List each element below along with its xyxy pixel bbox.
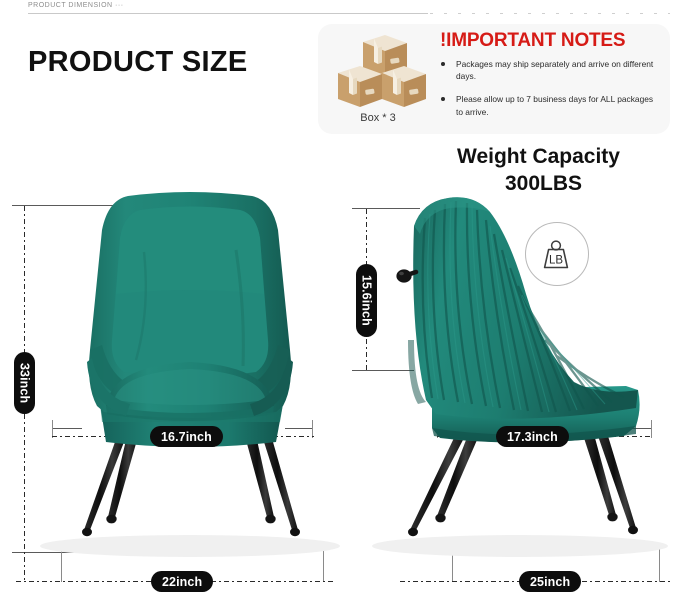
page-title: PRODUCT SIZE <box>28 46 248 79</box>
list-item: Packages may ship separately and arrive … <box>440 58 662 82</box>
back-knob <box>396 269 416 282</box>
header-divider-dotted <box>430 13 670 14</box>
weight-capacity-title: Weight Capacity <box>457 145 620 169</box>
dimension-label-seat-depth: 17.3inch <box>496 426 569 447</box>
dimension-label-seat-width: 16.7inch <box>150 426 223 447</box>
bullet-dot-icon <box>441 97 445 101</box>
list-item: Please allow up to 7 business days for A… <box>440 93 662 117</box>
important-notes-panel: Box * 3 !IMPORTANT NOTES Packages may sh… <box>318 24 670 134</box>
note-text: Please allow up to 7 business days for A… <box>456 94 653 116</box>
dimension-label-overall-depth: 25inch <box>519 571 581 592</box>
dimension-label-seat-height: 15.6inch <box>356 264 377 337</box>
cardboard-boxes-icon: Box * 3 <box>330 32 426 128</box>
kicker-label: PRODUCT DIMENSION ··· <box>28 2 124 9</box>
header-divider <box>28 13 428 14</box>
note-text: Packages may ship separately and arrive … <box>456 59 653 81</box>
bullet-dot-icon <box>441 62 445 66</box>
dimension-label-height: 33inch <box>14 352 35 414</box>
chair-side-view <box>370 190 665 560</box>
notes-bullet-list: Packages may ship separately and arrive … <box>440 58 662 129</box>
dimension-label-overall-width: 22inch <box>151 571 213 592</box>
notes-title: !IMPORTANT NOTES <box>440 30 625 52</box>
chair-front-view <box>40 190 330 560</box>
box-count-label: Box * 3 <box>330 112 426 124</box>
product-dimension-infographic: PRODUCT DIMENSION ··· PRODUCT SIZE <box>0 0 679 600</box>
